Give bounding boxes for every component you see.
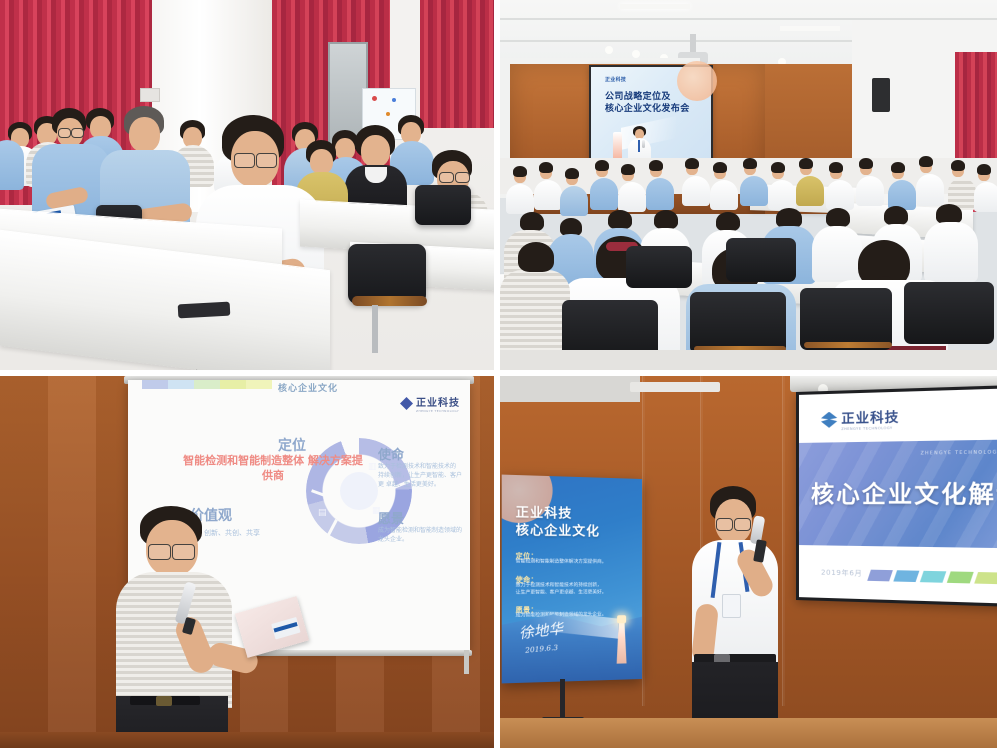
slide-corner-tag: ZHENGYE TECHNOLOGY [920,450,997,456]
downlight-2 [632,50,640,58]
slide-header-title: 核心企业文化 [278,381,338,394]
downlight-1 [605,46,613,54]
poster-title: 正业科技 核心企业文化 [516,503,600,539]
poster-mission-text: 致力于检测技术和智能技术的持续创新， 让生产更智能、客户更卓越、生活更美好。 [516,583,635,597]
slide-mission-title: 使命 [378,444,404,463]
lighthouse-lamp-icon [617,615,626,623]
slide-brand-logo: 正业科技 ZHENGYE TECHNOLOGY [400,394,460,413]
photo-panel-top-left [0,0,494,370]
name-badge [722,594,741,618]
projector-mount [690,34,696,52]
slide-brand-logo: 正业科技 ZHENGYE TECHNOLOGY [821,406,899,431]
wall-seam-3 [782,376,785,706]
ceiling-edge [500,376,640,402]
screen-brand-logo: 正业科技 [605,76,626,83]
floor [500,350,997,370]
screen-title-line2: 核心企业文化发布会 [605,103,690,115]
chair-wooden-armrest [352,296,427,306]
chair-back-right [415,185,471,225]
roller-screen-case-left [630,382,720,392]
poster-title-line2: 核心企业文化 [516,521,600,540]
culture-poster: 正业科技 核心企业文化 定位： 智能检测和智能制造整体解决方案提供商。 使命： … [502,475,642,684]
wall-seam-1 [642,376,645,706]
floor-strip [0,732,494,748]
whiteboard-magnet-blue-icon [392,98,396,102]
slide-header: 正业科技 ZHENGYE TECHNOLOGY [799,388,997,443]
smartphone-on-desk-2 [178,302,231,319]
ceiling-light-1 [620,4,690,9]
whiteboard-magnet-orange-icon [386,112,390,116]
poster-easel-stand [560,679,565,721]
slide-positioning-title: 定位 [278,435,306,455]
slide-main-title: 核心企业文化解读 [811,474,997,510]
slide-vision-title: 愿景 [378,508,404,527]
photo-collage: 正业科技 公司战略定位及 核心企业文化发布会 [0,0,1000,750]
slide-positioning-body: 智能检测和智能制造整体 解决方案提供商 [178,453,368,483]
slide-logo-text: 正业科技 [416,394,460,409]
chair-mid-1 [726,238,796,282]
wooden-floor [500,718,997,748]
chair-front-2 [690,292,786,354]
screen-right-support [464,650,469,674]
photo-panel-top-right: 正业科技 公司战略定位及 核心企业文化发布会 [500,0,997,370]
slide-vision-body: 成为智能检测和智能制造领域的 龙头企业。 [378,526,463,544]
poster-title-line1: 正业科技 [516,503,600,522]
slide-footer: 2019年6月 [799,545,997,604]
slide-logo-subtext: ZHENGYE TECHNOLOGY [416,409,460,413]
chair-front-3 [800,288,892,350]
chair-armrest-3 [804,342,892,348]
presentation-screen: 正业科技 ZHENGYE TECHNOLOGY ZHENGYE TECHNOLO… [796,385,997,607]
document-icon: ▤ [318,508,327,518]
kite-diamond-logo-icon [821,411,837,428]
slide-title-band: ZHENGYE TECHNOLOGY 核心企业文化解读 [799,440,997,549]
slide-logo-text: 正业科技 [841,406,899,427]
chair-front-4 [904,282,994,344]
kite-diamond-logo-icon [400,397,413,410]
red-curtain-right [420,0,494,128]
ceiling-light-2 [780,26,840,31]
photo-panel-bottom-left: 核心企业文化 正业科技 ZHENGYE TECHNOLOGY ▥ ▦ ▤ 定位 … [0,376,494,748]
people-icon: ▥ [368,462,377,472]
photo-panel-bottom-right: 正业科技 ZHENGYE TECHNOLOGY ZHENGYE TECHNOLO… [500,376,997,748]
screen-title-line1: 公司战略定位及 [605,91,690,103]
whiteboard-magnet-red-icon [372,96,377,101]
slide-mission-body: 致力于检测技术和智能技术的 持续创新，让生产更智能、客户更 卓越、生活更美好。 [378,462,463,489]
chair-mid-2 [626,246,692,288]
wall-socket [140,88,160,102]
office-chair-front [348,244,426,304]
poster-positioning-text: 智能检测和智能制造整体解决方案提供商。 [516,559,635,566]
slide-color-bars [142,380,272,389]
wall-speaker [872,78,890,112]
slide-logo-subtext: ZHENGYE TECHNOLOGY [841,426,899,431]
screen-title: 公司战略定位及 核心企业文化发布会 [605,91,690,115]
chair-post [372,305,378,353]
slide-date: 2019年6月 [821,568,862,579]
slide-color-swatches [869,570,997,585]
